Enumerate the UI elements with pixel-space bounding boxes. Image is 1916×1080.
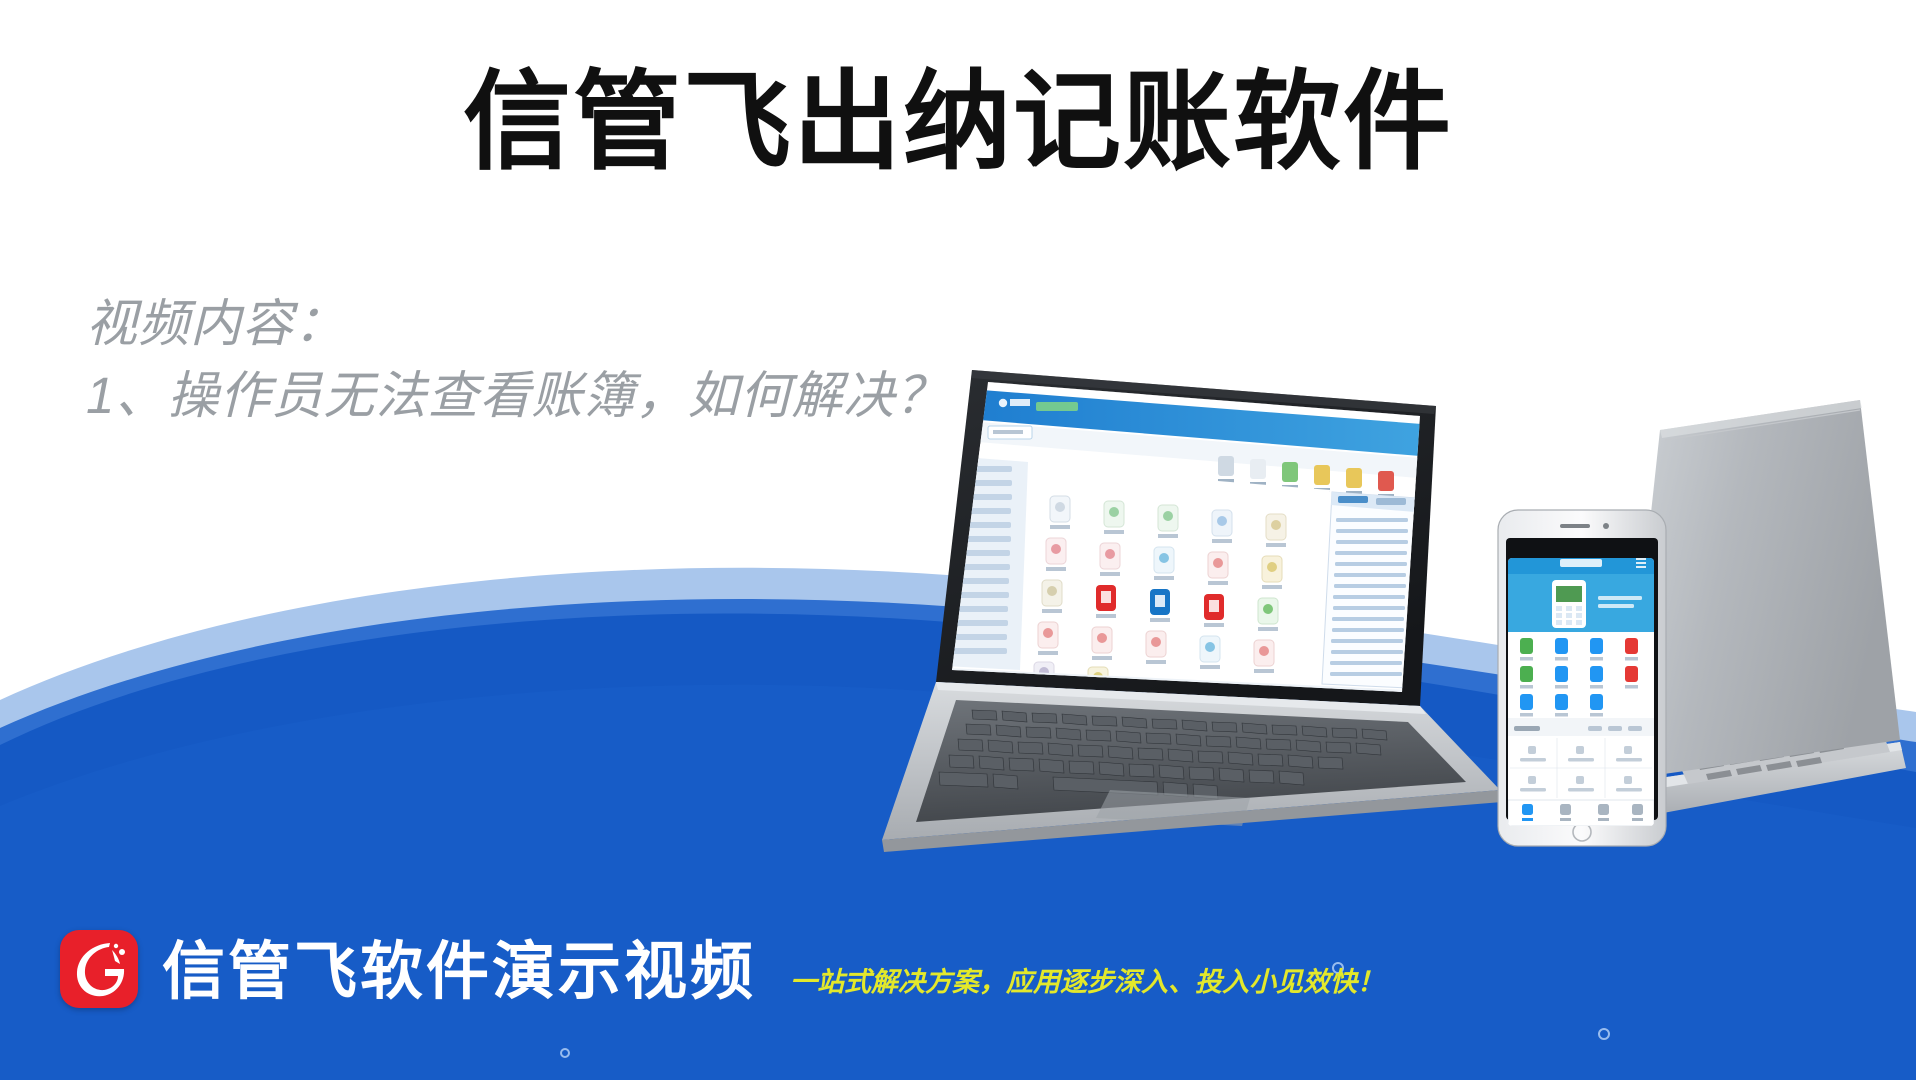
page-title: 信管飞出纳记账软件 bbox=[0, 62, 1916, 183]
video-content-item-1: 1、操作员无法查看账簿，如何解决？ bbox=[86, 360, 947, 432]
footer-brand-bar: 信管飞软件演示视频 一站式解决方案，应用逐步深入、投入小见效快！ bbox=[60, 930, 1384, 1008]
phone-app-title bbox=[1560, 559, 1602, 567]
phone-menu-icon bbox=[1636, 558, 1646, 568]
phone-device bbox=[1498, 510, 1666, 846]
log-panel-title bbox=[1338, 496, 1368, 503]
app-version-badge bbox=[1036, 402, 1078, 411]
phone-section-title bbox=[1514, 726, 1540, 731]
laptop-front-device bbox=[882, 370, 1502, 852]
brand-name: 信管飞软件演示视频 bbox=[162, 941, 756, 1004]
brand-slogan: 一站式解决方案，应用逐步深入、投入小见效快！ bbox=[790, 969, 1384, 996]
app-logo-icon bbox=[999, 399, 1030, 407]
deco-ring-2 bbox=[1598, 1028, 1610, 1040]
device-mockup-group bbox=[860, 370, 1916, 930]
phone-earpiece bbox=[1560, 524, 1590, 528]
video-content-block: 视频内容： 1、操作员无法查看账簿，如何解决？ bbox=[86, 288, 947, 433]
promo-slide: 信管飞出纳记账软件 视频内容： 1、操作员无法查看账簿，如何解决？ bbox=[0, 0, 1916, 1080]
laptop-screen-content bbox=[946, 370, 1422, 702]
video-content-heading: 视频内容： bbox=[86, 288, 947, 360]
phone-camera-icon bbox=[1603, 523, 1609, 529]
deco-ring-3 bbox=[560, 1048, 570, 1058]
phone-screen-content bbox=[1508, 540, 1654, 826]
xinguanfei-bird-logo-icon bbox=[60, 930, 138, 1008]
